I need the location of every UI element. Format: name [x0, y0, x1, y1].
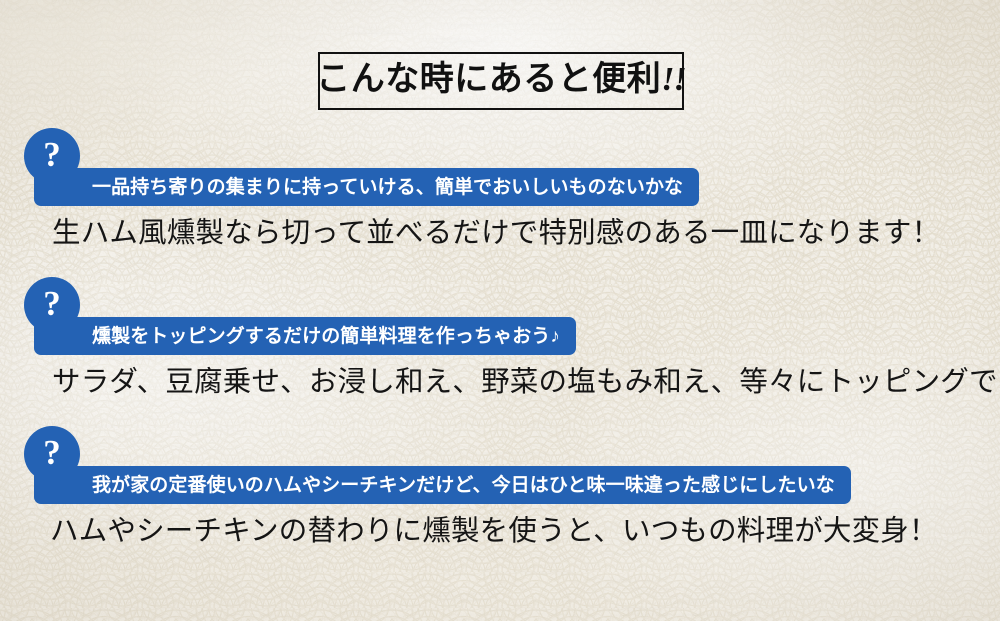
question-banner-3: 我が家の定番使いのハムやシーチキンだけど、今日はひと味一味違った感じにしたいな [34, 466, 851, 504]
answer-text-1: 生ハム風燻製なら切って並べるだけで特別感のある一皿になります！ [52, 218, 940, 251]
page-title-box: こんな時にあると便利!! [318, 52, 684, 110]
page-title: こんな時にあると便利!! [316, 63, 685, 99]
answer-text-2: サラダ、豆腐乗せ、お浸し和え、野菜の塩もみ和え、等々にトッピングできます！ [52, 367, 1000, 400]
question-mark-icon: ? [24, 426, 80, 482]
question-badge-label: ? [43, 435, 61, 470]
question-text-2: 燻製をトッピングするだけの簡単料理を作っちゃおう♪ [92, 327, 560, 346]
infographic-content: こんな時にあると便利!! ? 一品持ち寄りの集まりに持っていける、簡単でおいしい… [0, 0, 1000, 621]
page-title-main: こんな時にあると便利 [316, 61, 661, 98]
question-mark-icon: ? [24, 128, 80, 184]
question-badge-label: ? [43, 137, 61, 172]
question-banner-1: 一品持ち寄りの集まりに持っていける、簡単でおいしいものないかな [34, 168, 699, 206]
answer-text-3: ハムやシーチキンの替わりに燻製を使うと、いつもの料理が大変身！ [50, 516, 938, 549]
question-mark-icon: ? [24, 277, 80, 333]
page-title-exclamation: !! [661, 61, 685, 98]
question-badge-label: ? [43, 286, 61, 321]
question-text-1: 一品持ち寄りの集まりに持っていける、簡単でおいしいものないかな [92, 178, 683, 197]
question-banner-2: 燻製をトッピングするだけの簡単料理を作っちゃおう♪ [34, 317, 576, 355]
question-text-3: 我が家の定番使いのハムやシーチキンだけど、今日はひと味一味違った感じにしたいな [92, 476, 835, 495]
